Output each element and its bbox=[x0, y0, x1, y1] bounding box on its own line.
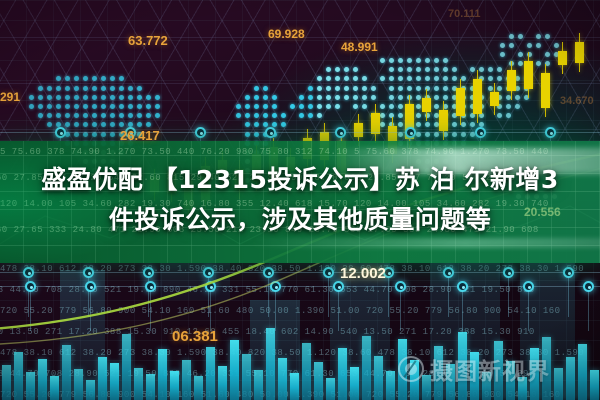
headline-line-2: 件投诉公示，涉及其他质量问题等 bbox=[0, 200, 600, 240]
numeric-callout: 69.928 bbox=[268, 27, 305, 41]
headline-line-1: 盛盈优配 【12315投诉公示】苏 泊 尔新增3 bbox=[0, 160, 600, 200]
numeric-callout: 06.381 bbox=[172, 328, 218, 345]
news-banner-image: 478 38.10 612 38.20 273 38.30 1.590 38.4… bbox=[0, 0, 600, 400]
numeric-callout: 34.670 bbox=[560, 95, 594, 107]
headline: 盛盈优配 【12315投诉公示】苏 泊 尔新增3 件投诉公示，涉及其他质量问题等 bbox=[0, 160, 600, 240]
numeric-callout: 70.111 bbox=[448, 8, 480, 20]
numeric-callout: 63.772 bbox=[128, 33, 168, 48]
numeric-callout: 26.417 bbox=[120, 128, 160, 143]
numeric-callout: 291 bbox=[0, 90, 20, 104]
watermark: 摄图新视界 bbox=[398, 352, 550, 386]
numeric-callout: 12.002 bbox=[340, 265, 386, 282]
numeric-callout: 48.991 bbox=[341, 40, 378, 54]
watermark-text: 摄图新视界 bbox=[430, 352, 550, 386]
camera-aperture-icon bbox=[398, 356, 424, 382]
